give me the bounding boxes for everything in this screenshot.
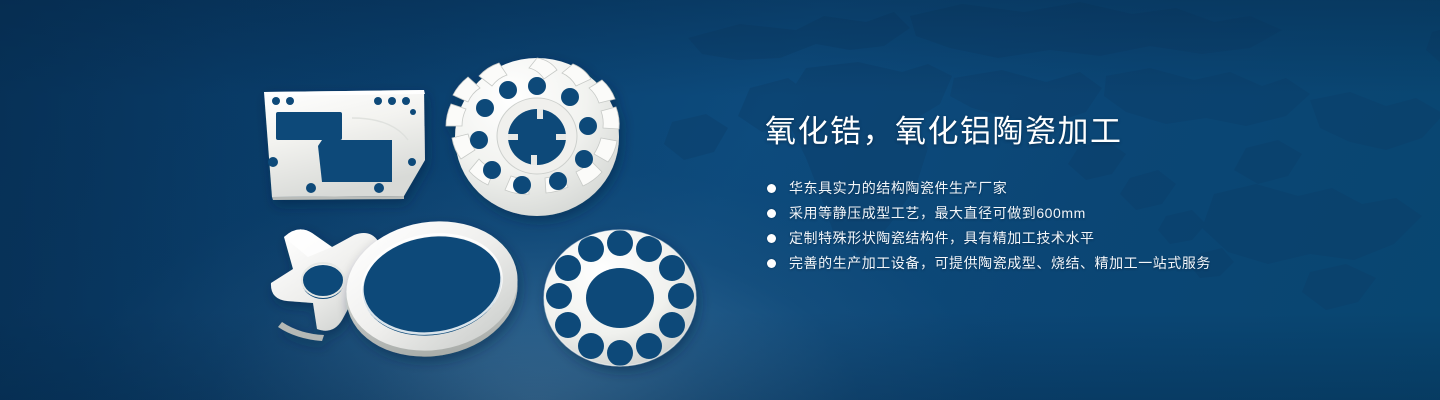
ceramic-products-group [0,0,760,400]
banner-headline: 氧化锆，氧化铝陶瓷加工 [765,112,1385,152]
feature-text: 定制特殊形状陶瓷结构件，具有精加工技术水平 [789,226,1095,250]
list-item: 定制特殊形状陶瓷结构件，具有精加工技术水平 [767,226,1385,250]
ceramic-mounting-plate [264,90,425,200]
feature-list: 华东具实力的结构陶瓷件生产厂家 采用等静压成型工艺，最大直径可做到600mm 定… [767,176,1385,275]
bullet-dot-icon [767,259,776,268]
list-item: 完善的生产加工设备，可提供陶瓷成型、烧结、精加工一站式服务 [767,251,1385,275]
feature-text: 华东具实力的结构陶瓷件生产厂家 [789,176,1007,200]
list-item: 华东具实力的结构陶瓷件生产厂家 [767,176,1385,200]
banner-copy: 氧化锆，氧化铝陶瓷加工 华东具实力的结构陶瓷件生产厂家 采用等静压成型工艺，最大… [765,112,1385,276]
ceramic-perforated-disc [544,230,696,366]
bullet-dot-icon [767,209,776,218]
feature-text: 采用等静压成型工艺，最大直径可做到600mm [789,201,1086,225]
feature-text: 完善的生产加工设备，可提供陶瓷成型、烧结、精加工一站式服务 [789,251,1211,275]
ceramic-processing-banner: 氧化锆，氧化铝陶瓷加工 华东具实力的结构陶瓷件生产厂家 采用等静压成型工艺，最大… [0,0,1440,400]
bullet-dot-icon [767,184,776,193]
bullet-dot-icon [767,234,776,243]
list-item: 采用等静压成型工艺，最大直径可做到600mm [767,201,1385,225]
ceramic-impeller-disc [446,58,619,216]
